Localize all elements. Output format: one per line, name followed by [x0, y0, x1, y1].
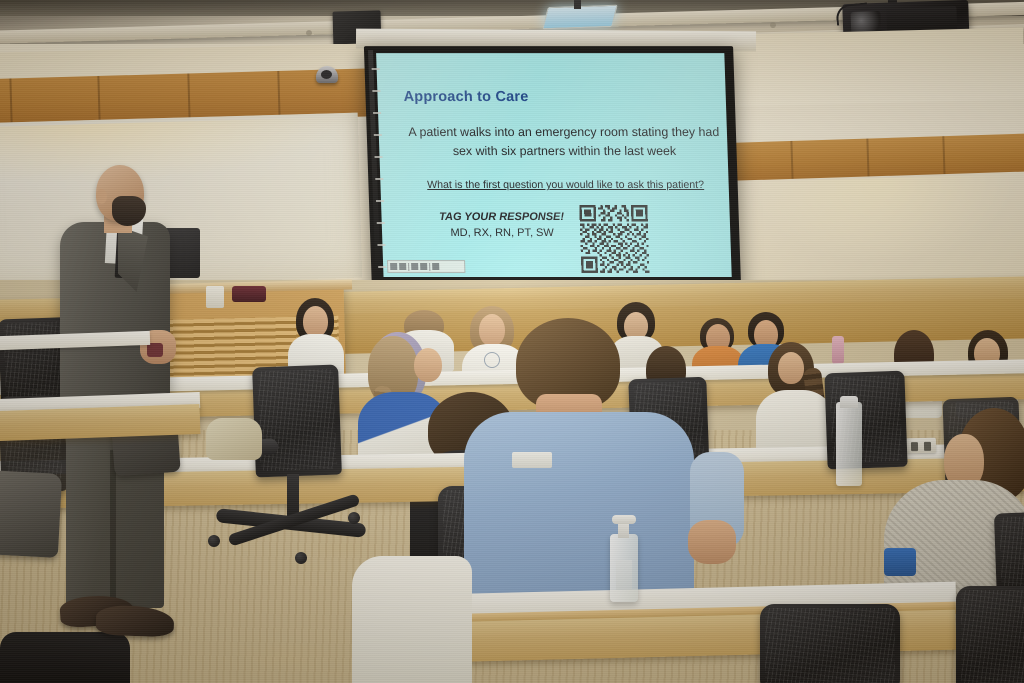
whiteboard-light-glow	[0, 117, 351, 187]
chair-caster	[295, 552, 307, 564]
face	[303, 306, 328, 337]
presenter-clicker	[147, 343, 163, 357]
office-chair-far-right[interactable]	[956, 586, 1024, 683]
bottle-cap	[840, 396, 858, 408]
tote-bag	[206, 418, 262, 460]
projection-screen: Approach to Care A patient walks into an…	[364, 46, 741, 289]
office-chair[interactable]	[252, 365, 342, 478]
bag-on-counter	[232, 286, 266, 302]
sanitizer-pump-head	[612, 515, 636, 524]
lecture-hall-photo: Approach to Care A patient walks into an…	[0, 0, 1024, 683]
office-chair-bottom-left[interactable]	[0, 632, 130, 683]
pink-bottle	[832, 336, 844, 364]
ceiling-fitting	[770, 22, 776, 28]
chair-caster	[208, 535, 220, 547]
face	[414, 348, 442, 382]
face	[479, 314, 505, 346]
ceiling-light-stem	[574, 0, 581, 9]
blue-item	[884, 548, 916, 576]
blue-scrubs	[464, 412, 694, 612]
wall-light-glow-right	[759, 174, 1011, 262]
office-chair-front-right[interactable]	[760, 604, 900, 683]
chair-caster	[348, 512, 360, 524]
water-bottle	[836, 402, 862, 486]
coat-logo	[484, 352, 500, 368]
presenter-ear	[96, 189, 107, 204]
arm	[688, 520, 736, 564]
duffel-bag-floor	[0, 470, 62, 558]
sanitizer-label	[616, 560, 632, 590]
power-outlet[interactable]	[906, 438, 936, 454]
cup	[206, 286, 224, 308]
slide-glare	[376, 53, 732, 277]
presenter-trouser-crease	[110, 450, 116, 608]
face	[778, 352, 804, 384]
student-white-coat-front	[352, 556, 472, 683]
dome-camera-icon	[316, 66, 338, 83]
slide-content: Approach to Care A patient walks into an…	[376, 53, 732, 277]
ceiling-fitting	[306, 30, 312, 36]
id-badge	[512, 452, 552, 468]
